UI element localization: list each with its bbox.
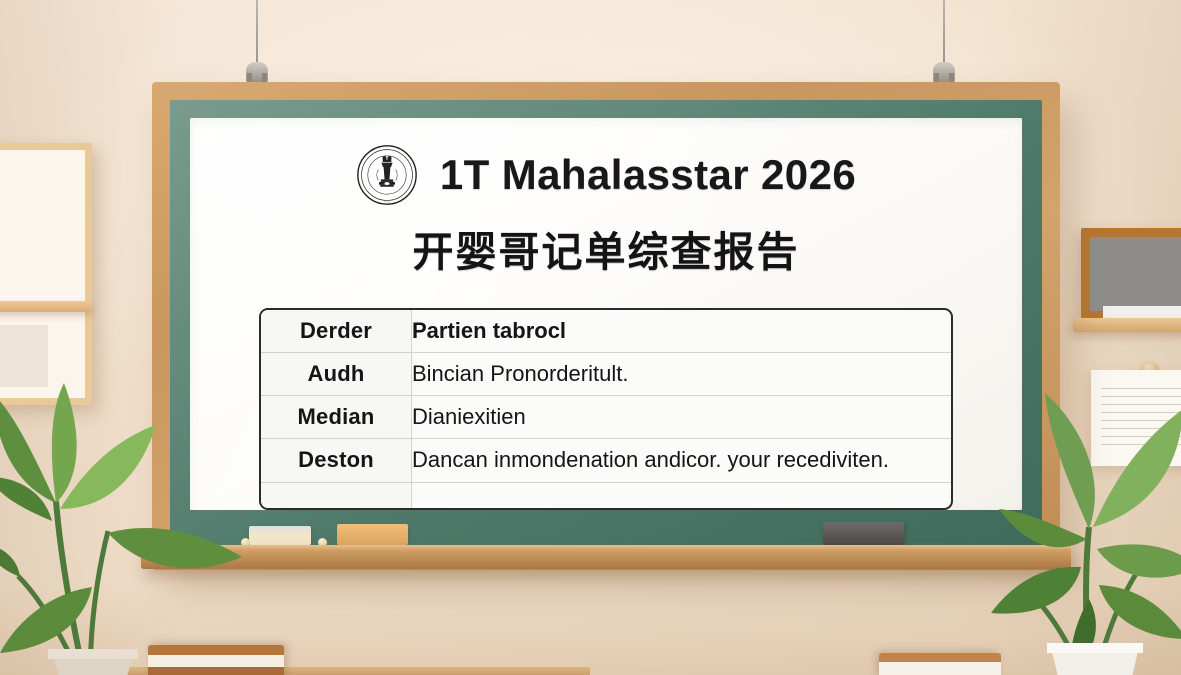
report-table: Derder Partien tabrocl Audh Bincian Pron… — [259, 308, 953, 510]
svg-text:◦◦◦◦◦: ◦◦◦◦◦ — [384, 200, 390, 204]
wall-shelf-left — [0, 301, 90, 312]
table-row-key: Median — [261, 396, 412, 439]
wall-shelf-right — [1073, 318, 1181, 332]
page-title: 1T Mahalasstar 2026 — [440, 151, 856, 199]
table-empty-value — [412, 482, 952, 510]
table-row-key: Deston — [261, 439, 412, 482]
svg-text:◦◦◦◦◦: ◦◦◦◦◦ — [384, 148, 390, 152]
tray-highlight — [141, 545, 1071, 550]
government-emblem-ashoka-pillar-icon: ◦◦◦◦◦ ◦◦◦◦◦ — [356, 144, 418, 206]
title-row: ◦◦◦◦◦ ◦◦◦◦◦ 1T Mahalasstar 2026 — [356, 144, 856, 206]
table-row: Audh Bincian Pronorderitult. — [261, 353, 951, 396]
whiteboard-surface: ◦◦◦◦◦ ◦◦◦◦◦ 1T Mahalasstar 2026 开婴哥记单综查报… — [190, 118, 1022, 510]
stacked-books-left — [148, 645, 284, 675]
table-empty-row — [261, 482, 951, 510]
note-lines — [1101, 388, 1181, 448]
table-header-row: Derder Partien tabrocl — [261, 310, 951, 353]
table-header-value: Partien tabrocl — [412, 310, 952, 353]
whiteboard: ◦◦◦◦◦ ◦◦◦◦◦ 1T Mahalasstar 2026 开婴哥记单综查报… — [152, 82, 1060, 570]
table-row-value: Dianiexitien — [412, 396, 952, 439]
table-header-key: Derder — [261, 310, 412, 353]
scene: ◦◦◦◦◦ ◦◦◦◦◦ 1T Mahalasstar 2026 开婴哥记单综查报… — [0, 0, 1181, 675]
table-row: Deston Dancan inmondenation andicor. you… — [261, 439, 951, 482]
whiteboard-tray — [141, 545, 1071, 569]
framed-board-right — [1081, 228, 1181, 320]
stacked-books-right — [879, 653, 1001, 675]
table-row-key: Audh — [261, 353, 412, 396]
whiteboard-wood-frame: ◦◦◦◦◦ ◦◦◦◦◦ 1T Mahalasstar 2026 开婴哥记单综查报… — [152, 82, 1060, 570]
framed-board-right-surface — [1090, 237, 1181, 311]
cable-hanger-right — [933, 62, 955, 82]
block-orange — [337, 524, 408, 545]
page-subtitle: 开婴哥记单综查报告 — [413, 218, 800, 278]
table-empty-key — [261, 482, 412, 510]
table-row-value: Bincian Pronorderitult. — [412, 353, 952, 396]
table-row: Median Dianiexitien — [261, 396, 951, 439]
table-row-value: Dancan inmondenation andicor. your reced… — [412, 439, 952, 482]
picture-lower-panel — [0, 325, 48, 387]
pinned-paper-note — [1091, 370, 1181, 466]
board-content: ◦◦◦◦◦ ◦◦◦◦◦ 1T Mahalasstar 2026 开婴哥记单综查报… — [190, 118, 1022, 510]
eraser-cream — [249, 526, 311, 545]
framed-picture-left — [0, 143, 92, 405]
eraser-dark — [823, 522, 904, 545]
cable-hanger-left — [246, 62, 268, 82]
